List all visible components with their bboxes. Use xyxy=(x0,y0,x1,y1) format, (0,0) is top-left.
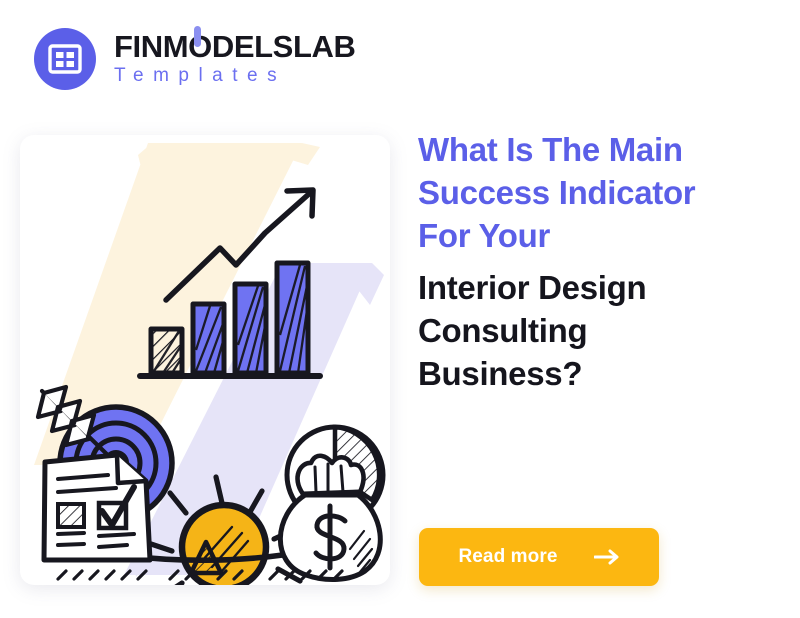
headline-dark-block: Interior Design Consulting Business? xyxy=(418,266,768,395)
read-more-label: Read more xyxy=(458,546,557,568)
brand-wordmark: FINMODELSLAB xyxy=(114,31,355,63)
page-title: What Is The Main Success Indicator For Y… xyxy=(418,128,768,395)
headline-dark-line: Consulting xyxy=(418,309,768,352)
grid-window-icon xyxy=(34,28,96,90)
arrow-right-icon xyxy=(594,549,620,565)
brand-wordmark-text: FINMODELSLAB xyxy=(114,29,355,64)
brand-subword: Templates xyxy=(114,66,355,87)
headline-dark-line: Interior Design xyxy=(418,266,768,309)
headline-accent-line: Success Indicator xyxy=(418,171,768,214)
headline-accent-line: For Your xyxy=(418,214,768,257)
headline-accent-line: What Is The Main xyxy=(418,128,768,171)
headline-dark-line: Business? xyxy=(418,352,768,395)
brand-wordmark-group: FINMODELSLAB Templates xyxy=(114,31,355,87)
business-success-illustration xyxy=(20,135,390,585)
brand-logo[interactable]: FINMODELSLAB Templates xyxy=(34,28,355,90)
read-more-button[interactable]: Read more xyxy=(419,528,659,586)
checklist-document-icon xyxy=(44,455,150,560)
headline-accent-block: What Is The Main Success Indicator For Y… xyxy=(418,128,768,257)
logo-pin-accent-icon xyxy=(194,26,201,47)
article-promo-banner: FINMODELSLAB Templates xyxy=(0,0,800,618)
